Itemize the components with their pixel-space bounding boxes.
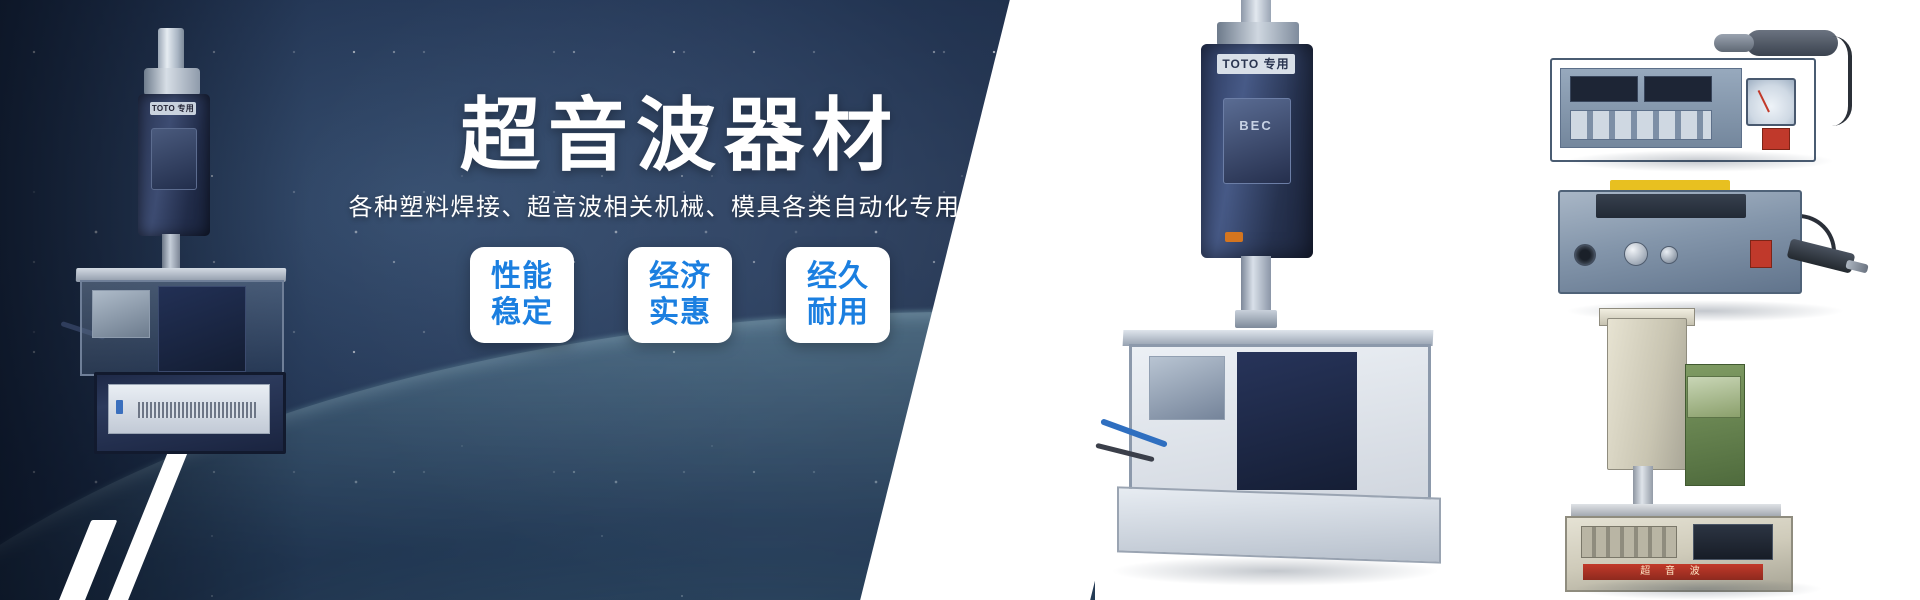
- product-bench-welder: [1550, 168, 1860, 308]
- bench-welder-knob-large: [1624, 242, 1648, 266]
- feature-badge-group: 性能 稳定 经济 实惠 经久 耐用: [330, 247, 1030, 343]
- machine-inner-block: [158, 286, 246, 372]
- product-showcase-panel: TOTO 专用 BEC: [1095, 0, 1920, 600]
- badge-performance-line1: 性能: [491, 259, 553, 294]
- standing-welder-column: [1607, 318, 1687, 470]
- machine-brand-label: TOTO 专用: [150, 102, 196, 115]
- right-machine-top-shaft: [1241, 0, 1271, 24]
- badge-economy-line1: 经济: [649, 259, 711, 294]
- right-machine-horn-rod: [1241, 256, 1271, 312]
- generator-transducer-cylinder: [1746, 30, 1838, 56]
- generator-display-right: [1644, 76, 1712, 102]
- bench-welder-port: [1574, 244, 1596, 266]
- main-machine-shadow: [1110, 556, 1440, 586]
- generator-power-cable: [1832, 36, 1852, 126]
- standing-welder-control-panel: [1693, 524, 1773, 560]
- machine-fixture: [92, 290, 150, 338]
- right-machine-orange-marker: [1225, 232, 1243, 242]
- page-subtitle: 各种塑料焊接、超音波相关机械、模具各类自动化专用设备: [330, 194, 1030, 223]
- badge-durability-line2: 耐用: [807, 295, 869, 330]
- generator-display-left: [1570, 76, 1638, 102]
- product-ultrasonic-generator: [1550, 30, 1850, 160]
- right-machine-panel-label: BEC: [1223, 118, 1289, 133]
- product-standing-welder: 超 音 波: [1555, 318, 1855, 600]
- ultrasonic-welding-machine-right-photo: TOTO 专用 BEC: [1113, 0, 1443, 600]
- machine-head: [144, 68, 200, 96]
- bench-welder-top-plate: [1596, 194, 1746, 218]
- badge-economy-line2: 实惠: [649, 295, 711, 330]
- generator-power-switch: [1762, 128, 1790, 150]
- right-machine-fixture: [1149, 356, 1225, 420]
- badge-performance-line2: 稳定: [491, 295, 553, 330]
- badge-economy[interactable]: 经济 实惠: [628, 247, 732, 343]
- machine-control-panel: [151, 128, 197, 190]
- ultrasonic-welding-machine-left-photo: TOTO 专用: [58, 28, 328, 458]
- right-machine-control-panel: [1223, 98, 1291, 184]
- product-shadow-3: [1573, 578, 1823, 600]
- badge-durability-line1: 经久: [807, 259, 869, 294]
- bench-welder-power-switch: [1750, 240, 1772, 268]
- right-machine-base: [1117, 486, 1441, 563]
- right-machine-head: [1217, 22, 1299, 46]
- machine-horn-rod: [162, 234, 180, 270]
- badge-durability[interactable]: 经久 耐用: [786, 247, 890, 343]
- right-machine-brand-label: TOTO 专用: [1217, 54, 1295, 74]
- generator-button-row: [1570, 110, 1712, 140]
- machine-column: [158, 28, 184, 70]
- right-machine-horn-tip: [1235, 310, 1277, 328]
- page-title: 超音波器材: [330, 96, 1030, 176]
- badge-performance[interactable]: 性能 稳定: [470, 247, 574, 343]
- hero-banner: TOTO 专用 超音波器材 各种塑料焊接、超音波相关机械、模具各类自动化专用设备…: [0, 0, 1920, 600]
- standing-welder-green-display: [1687, 376, 1741, 418]
- standing-welder-horn-rod: [1633, 466, 1653, 506]
- machine-indicator-led: [116, 400, 123, 414]
- generator-transducer-collar: [1714, 34, 1754, 52]
- standing-welder-knob-row: [1581, 526, 1677, 558]
- hero-copy-block: 超音波器材 各种塑料焊接、超音波相关机械、模具各类自动化专用设备 性能 稳定 经…: [330, 96, 1030, 343]
- machine-vent-grille: [138, 402, 256, 418]
- generator-analog-meter: [1746, 78, 1796, 126]
- right-machine-inner-block: [1237, 352, 1357, 490]
- bench-welder-knob-small: [1660, 246, 1678, 264]
